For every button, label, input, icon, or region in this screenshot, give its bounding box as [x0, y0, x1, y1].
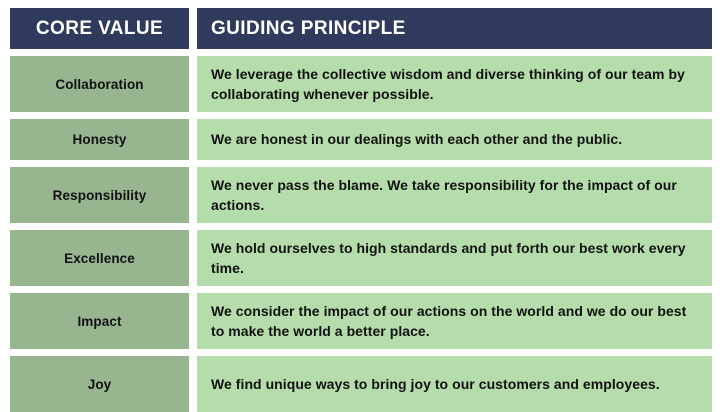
table-row: Impact We consider the impact of our act…: [10, 293, 712, 349]
principle-label: We consider the impact of our actions on…: [211, 301, 696, 342]
value-label: Collaboration: [55, 77, 143, 92]
principle-cell: We hold ourselves to high standards and …: [197, 230, 712, 286]
principle-label: We find unique ways to bring joy to our …: [211, 374, 660, 394]
header-label-guiding-principle: GUIDING PRINCIPLE: [211, 18, 406, 40]
value-cell: Honesty: [10, 119, 189, 160]
value-cell: Excellence: [10, 230, 189, 286]
header-cell-core-value: CORE VALUE: [10, 8, 189, 49]
header-label-core-value: CORE VALUE: [36, 18, 163, 40]
principle-cell: We are honest in our dealings with each …: [197, 119, 712, 160]
value-label: Excellence: [64, 251, 135, 266]
value-cell: Responsibility: [10, 167, 189, 223]
table-header-row: CORE VALUE GUIDING PRINCIPLE: [10, 8, 712, 49]
value-cell: Impact: [10, 293, 189, 349]
principle-cell: We consider the impact of our actions on…: [197, 293, 712, 349]
principle-label: We hold ourselves to high standards and …: [211, 238, 696, 279]
value-label: Impact: [77, 314, 121, 329]
principle-cell: We never pass the blame. We take respons…: [197, 167, 712, 223]
principle-label: We are honest in our dealings with each …: [211, 129, 622, 149]
principle-label: We leverage the collective wisdom and di…: [211, 64, 696, 105]
value-cell: Collaboration: [10, 56, 189, 112]
value-label: Responsibility: [53, 188, 147, 203]
value-label: Joy: [88, 377, 112, 392]
table-row: Collaboration We leverage the collective…: [10, 56, 712, 112]
core-values-table: CORE VALUE GUIDING PRINCIPLE Collaborati…: [0, 0, 720, 404]
table-row: Honesty We are honest in our dealings wi…: [10, 119, 712, 160]
table-row: Responsibility We never pass the blame. …: [10, 167, 712, 223]
principle-cell: We leverage the collective wisdom and di…: [197, 56, 712, 112]
header-cell-guiding-principle: GUIDING PRINCIPLE: [197, 8, 712, 49]
principle-label: We never pass the blame. We take respons…: [211, 175, 696, 216]
table-row: Excellence We hold ourselves to high sta…: [10, 230, 712, 286]
value-label: Honesty: [73, 132, 127, 147]
